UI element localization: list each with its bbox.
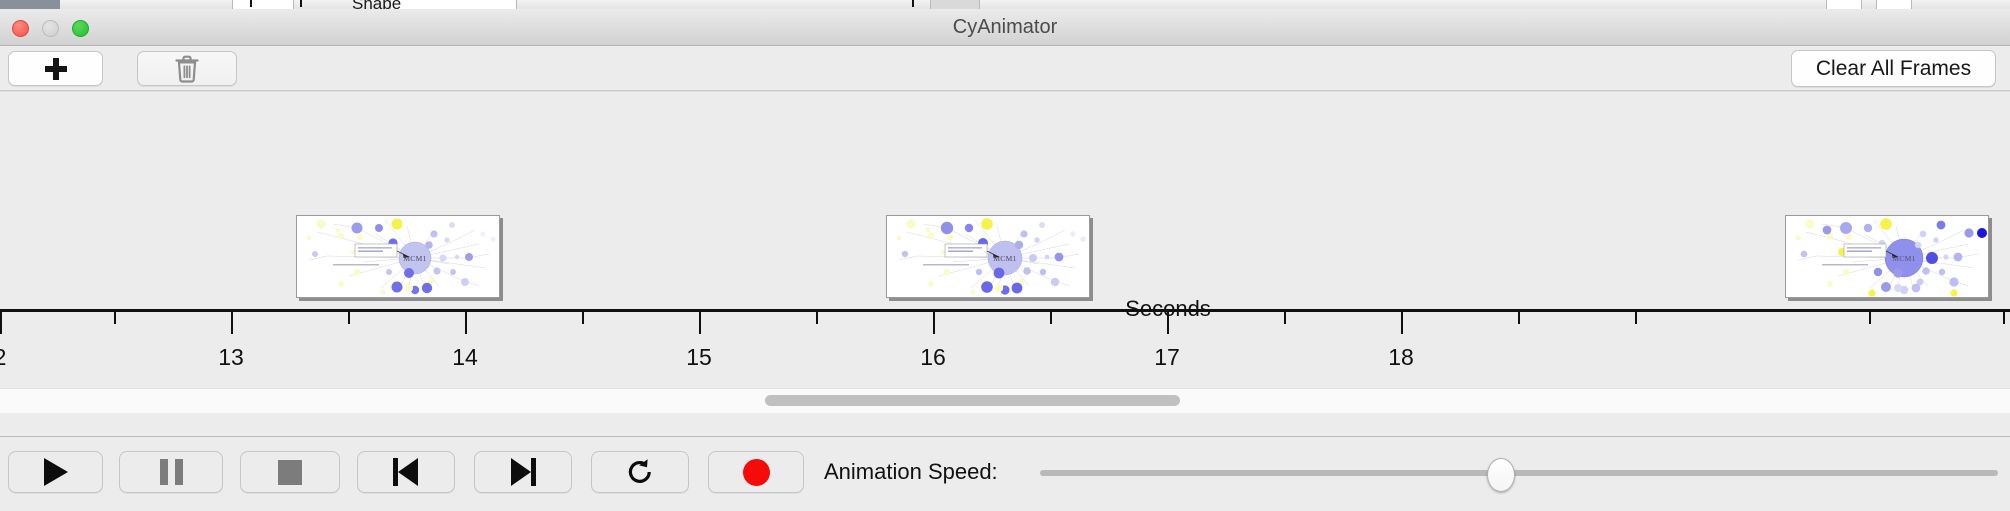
loop-button[interactable] [591, 451, 689, 493]
axis-tick-minor-3 [582, 312, 584, 324]
axis-label-14: 14 [425, 344, 505, 371]
play-button[interactable] [8, 451, 103, 493]
timeline-hscrollbar[interactable] [0, 388, 2010, 413]
background-window-label: Shape [352, 0, 401, 9]
clear-all-frames-label: Clear All Frames [1816, 57, 1971, 81]
axis-tick-minor-1 [114, 312, 116, 324]
background-window-field-b [390, 0, 517, 9]
axis-label-16: 16 [893, 344, 973, 371]
timeline-hscroll-thumb[interactable] [765, 395, 1180, 406]
window-title: CyAnimator [0, 9, 2010, 45]
axis-tick-minor-7 [1518, 312, 1520, 324]
playback-control-bar: Animation Speed: [0, 436, 2010, 511]
background-window-field-e [1876, 0, 1912, 9]
pause-button[interactable] [119, 451, 223, 493]
axis-label-18: 18 [1361, 344, 1441, 371]
network-thumbnail-3: MCM1 [1786, 216, 1989, 298]
title-bar: CyAnimator [0, 9, 2010, 46]
record-button[interactable] [708, 451, 804, 493]
cyanimator-window: Shape CyAnimator Clear All Frames [0, 0, 2010, 510]
trash-icon [174, 54, 200, 84]
network-thumbnail-1: MCM1 [297, 216, 500, 298]
record-icon [743, 459, 770, 486]
frame-toolbar: Clear All Frames [0, 46, 2010, 91]
axis-label-13: 13 [191, 344, 271, 371]
timeline-frame-3[interactable]: MCM1 [1785, 215, 1989, 298]
timeline-panel[interactable]: MCM1 [0, 91, 2010, 412]
axis-tick-major-14 [465, 312, 467, 334]
axis-label-17: 17 [1127, 344, 1207, 371]
background-window-tick-c [912, 0, 914, 7]
plus-icon [45, 58, 67, 80]
loop-icon [625, 457, 655, 487]
axis-tick-major-16 [933, 312, 935, 334]
axis-tick-minor-10 [2003, 312, 2005, 324]
animation-speed-track[interactable] [1040, 470, 1998, 476]
pause-icon [160, 459, 183, 485]
axis-tick-minor-5 [1050, 312, 1052, 324]
svg-text:MCM1: MCM1 [403, 254, 426, 263]
stop-icon [278, 460, 302, 485]
animation-speed-knob[interactable] [1487, 458, 1515, 492]
clear-all-frames-button[interactable]: Clear All Frames [1791, 50, 1996, 87]
axis-tick-major-15 [699, 312, 701, 334]
axis-label-15: 15 [659, 344, 739, 371]
add-frame-button[interactable] [8, 51, 103, 86]
axis-tick-minor-8 [1635, 312, 1637, 324]
timeline-frame-2[interactable]: MCM1 [886, 215, 1090, 298]
svg-text:MCM1: MCM1 [993, 254, 1016, 263]
skip-previous-icon [393, 458, 419, 486]
play-icon [44, 458, 68, 486]
axis-tick-minor-2 [348, 312, 350, 324]
axis-tick-minor-4 [816, 312, 818, 324]
background-window-strip: Shape [0, 0, 2010, 9]
background-window-toolbar-chip [0, 0, 60, 9]
timeline-frame-1[interactable]: MCM1 [296, 215, 500, 298]
timeline-axis-line [0, 309, 2010, 312]
timeline-top-divider [0, 91, 2010, 92]
previous-frame-button[interactable] [357, 451, 455, 493]
animation-speed-label: Animation Speed: [824, 451, 998, 493]
delete-frame-button[interactable] [137, 51, 237, 86]
background-window-field-c [930, 0, 980, 9]
axis-tick-minor-6 [1284, 312, 1286, 324]
background-window-tick-b [300, 0, 302, 7]
axis-title-seconds: Seconds [1068, 296, 1268, 322]
svg-text:MCM1: MCM1 [1892, 254, 1915, 263]
background-window-tick-a [250, 0, 252, 7]
next-frame-button[interactable] [474, 451, 572, 493]
stop-button[interactable] [240, 451, 340, 493]
axis-tick-major-18 [1401, 312, 1403, 334]
axis-tick-major-13 [231, 312, 233, 334]
animation-speed-slider[interactable] [1040, 451, 1998, 493]
skip-next-icon [510, 458, 536, 486]
axis-label-12: 2 [0, 344, 40, 371]
axis-tick-minor-9 [1869, 312, 1871, 324]
axis-tick-major-12 [0, 312, 2, 334]
network-thumbnail-2: MCM1 [887, 216, 1090, 298]
background-window-field-d [1826, 0, 1862, 9]
background-window-field-a [232, 0, 294, 9]
